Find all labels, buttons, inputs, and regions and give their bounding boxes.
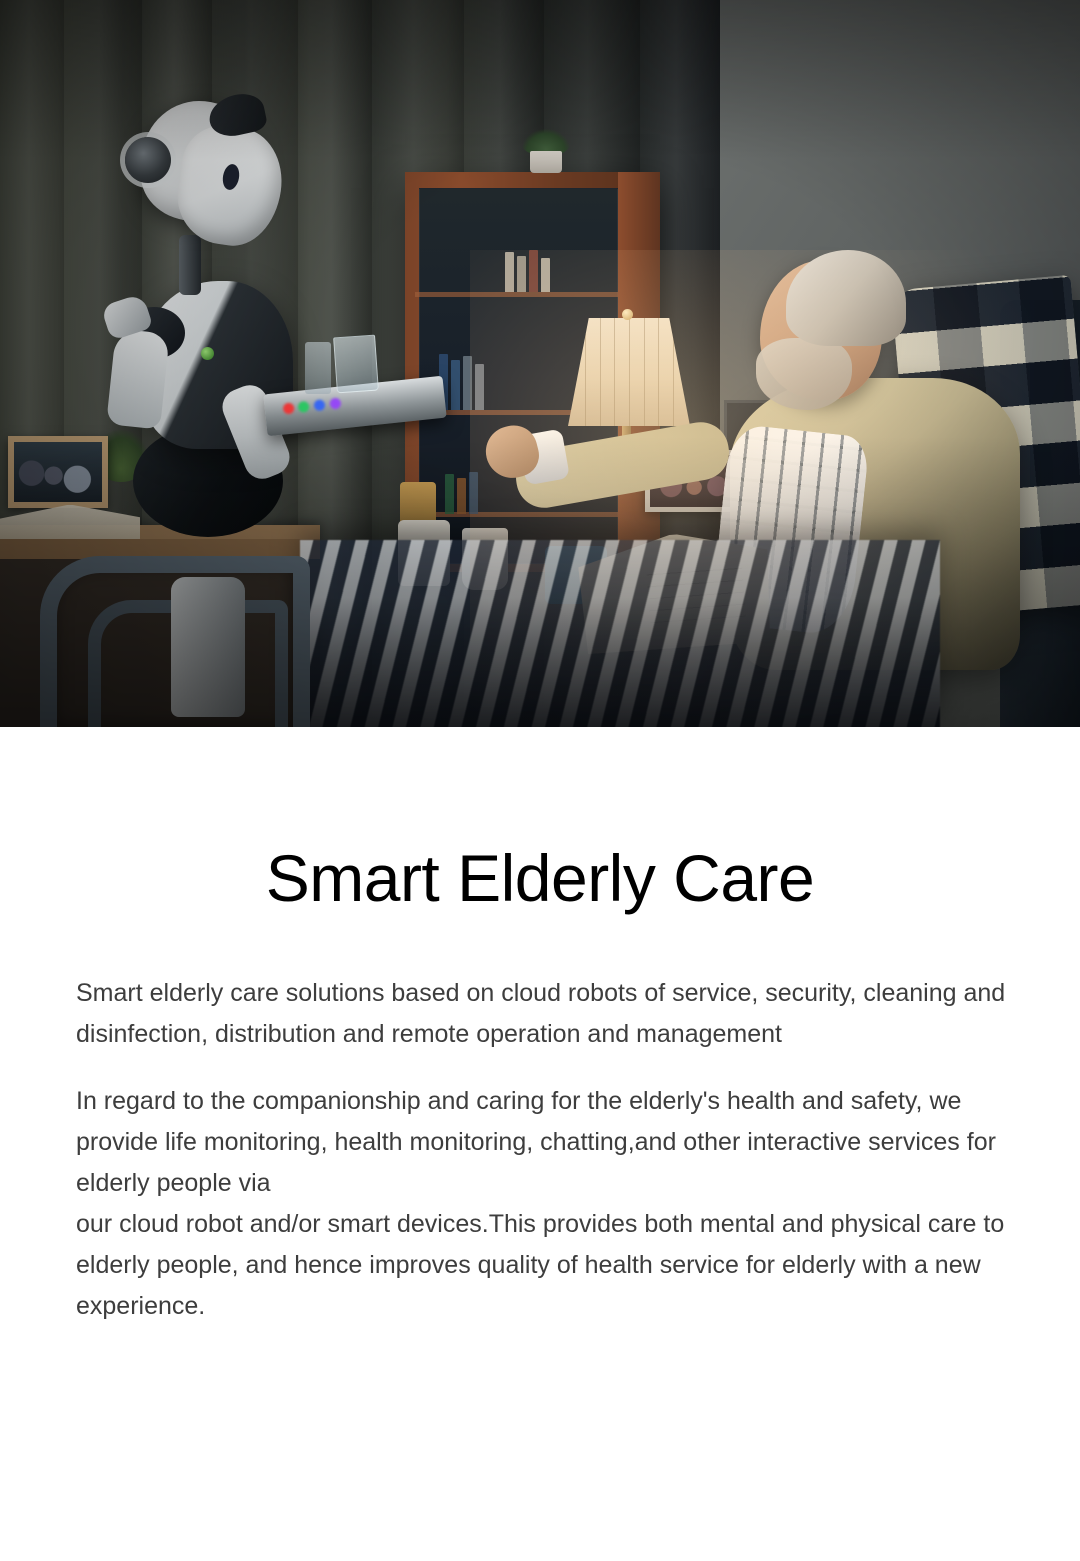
potted-plant: [522, 131, 570, 173]
paragraph-services: In regard to the companionship and carin…: [76, 1081, 1006, 1327]
led-blue: [313, 399, 325, 411]
desk-photo-frame: [8, 436, 108, 508]
robot-chest-indicator: [201, 347, 214, 360]
robot-leg: [171, 577, 245, 717]
plant-pot: [530, 151, 562, 173]
bottle: [305, 342, 331, 394]
robot-neck: [179, 235, 201, 295]
water-glass: [333, 335, 379, 394]
shelf-books: [505, 248, 550, 292]
page-title: Smart Elderly Care: [0, 845, 1080, 911]
bookshelf-ledge: [415, 292, 618, 297]
desk-photo-image: [14, 442, 102, 502]
led-red: [283, 402, 295, 414]
paragraph-intro: Smart elderly care solutions based on cl…: [76, 973, 1006, 1055]
man-beard: [756, 338, 852, 410]
shelf-books: [439, 352, 484, 410]
page-root: Smart Elderly Care Smart elderly care so…: [0, 0, 1080, 1561]
led-purple: [329, 398, 341, 410]
content-section: Smart Elderly Care Smart elderly care so…: [0, 727, 1080, 1327]
hero-image: [0, 0, 1080, 727]
robot-arm: [106, 328, 170, 429]
led-green: [298, 401, 310, 413]
shelf-books: [445, 470, 478, 514]
description-block: Smart elderly care solutions based on cl…: [76, 973, 1006, 1327]
robot-ear-speaker: [125, 137, 171, 183]
